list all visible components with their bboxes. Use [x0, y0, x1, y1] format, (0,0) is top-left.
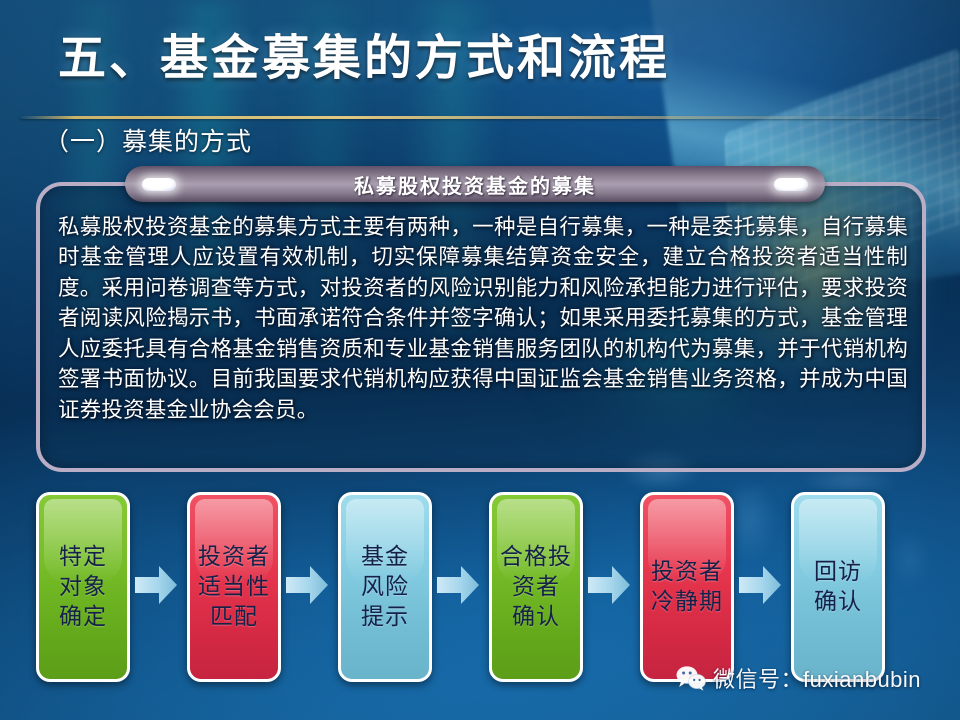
- flow-node-label: 投资者冷静期: [651, 557, 723, 617]
- watermark: 微信号：fuxianbubin: [676, 662, 921, 694]
- banner-pin-left-icon: [142, 178, 176, 191]
- flow-node-label: 回访确认: [814, 557, 862, 617]
- flow-diagram: 特定对象确定投资者适当性匹配基金风险提示合格投资者确认投资者冷静期回访确认: [0, 492, 960, 682]
- card-banner-title: 私募股权投资基金的募集: [354, 170, 596, 199]
- card-body-text: 私募股权投资基金的募集方式主要有两种，一种是自行募集，一种是委托募集，自行募集时…: [58, 212, 908, 425]
- flow-node-1[interactable]: 特定对象确定: [36, 492, 130, 682]
- flow-arrow-2-icon: [285, 564, 329, 606]
- flow-node-3[interactable]: 基金风险提示: [338, 492, 432, 682]
- flow-node-6[interactable]: 回访确认: [791, 492, 885, 682]
- flow-node-5[interactable]: 投资者冷静期: [640, 492, 734, 682]
- flow-node-label: 特定对象确定: [59, 542, 107, 632]
- banner-pin-right-icon: [774, 178, 808, 191]
- flow-arrow-1-icon: [134, 564, 178, 606]
- page-title: 五、基金募集的方式和流程: [58, 34, 670, 82]
- flow-node-4[interactable]: 合格投资者确认: [489, 492, 583, 682]
- card-banner: 私募股权投资基金的募集: [125, 166, 825, 202]
- title-divider: [20, 116, 940, 119]
- flow-node-label: 基金风险提示: [361, 542, 409, 632]
- page-subtitle: （一）募集的方式: [44, 122, 252, 158]
- flow-arrow-4-icon: [587, 564, 631, 606]
- flow-node-2[interactable]: 投资者适当性匹配: [187, 492, 281, 682]
- slide-root: 五、基金募集的方式和流程 （一）募集的方式 私募股权投资基金的募集 私募股权投资…: [0, 0, 960, 720]
- flow-arrow-5-icon: [738, 564, 782, 606]
- flow-arrow-3-icon: [436, 564, 480, 606]
- wechat-icon: [676, 665, 706, 691]
- flow-node-label: 合格投资者确认: [500, 542, 572, 632]
- flow-node-label: 投资者适当性匹配: [198, 542, 270, 632]
- watermark-text: 微信号：fuxianbubin: [713, 662, 921, 694]
